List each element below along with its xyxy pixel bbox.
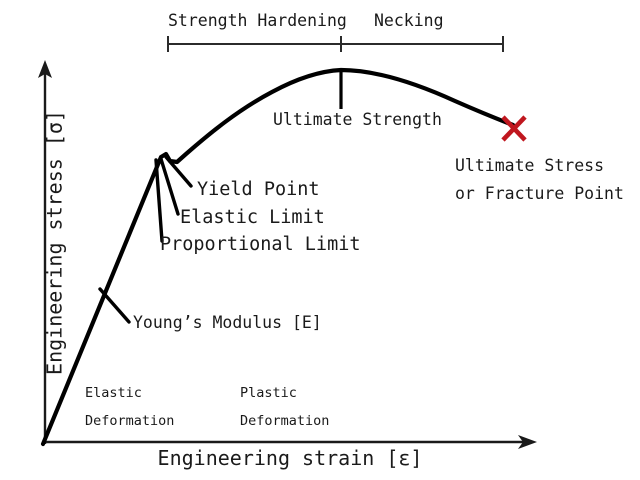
phase-bracket <box>168 36 503 52</box>
annotation-yield-point: Yield Point <box>197 180 320 199</box>
region-label-elastic-line-2: Deformation <box>85 409 174 435</box>
region-label-plastic-line-2: Deformation <box>240 409 329 435</box>
youngs-modulus-leader <box>100 289 129 322</box>
x-axis-title: Engineering strain [ε] <box>0 448 580 469</box>
phase-label-strength-hardening: Strength Hardening <box>168 12 347 29</box>
annotation-elastic-limit: Elastic Limit <box>180 208 325 227</box>
y-axis-title: Engineering stress [σ] <box>45 93 66 393</box>
stress-strain-diagram: Strength Hardening Necking Ultimate Stre… <box>0 0 640 480</box>
fracture-x-icon <box>503 117 525 140</box>
annotation-fracture-line-1: Ultimate Stress <box>455 157 604 174</box>
region-label-plastic-line-1: Plastic <box>240 381 297 407</box>
region-label-elastic-line-1: Elastic <box>85 381 142 407</box>
annotation-ultimate-strength: Ultimate Strength <box>273 111 442 128</box>
phase-label-necking: Necking <box>374 12 444 29</box>
annotation-youngs-modulus: Young’s Modulus [E] <box>133 314 322 331</box>
proportional-limit-leader <box>156 160 162 241</box>
annotation-fracture-line-2: or Fracture Point <box>455 185 624 202</box>
annotation-proportional-limit: Proportional Limit <box>160 235 360 254</box>
